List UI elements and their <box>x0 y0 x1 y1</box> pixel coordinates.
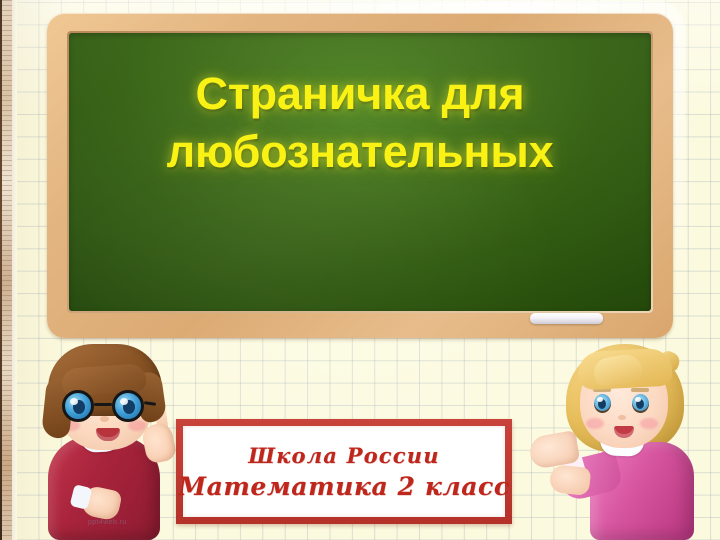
spine-gap <box>12 0 17 540</box>
girl-eye-right <box>632 394 649 413</box>
notebook-spine <box>0 0 17 540</box>
glasses-lens-right <box>112 390 144 422</box>
presentation-slide: Страничка для любознательных <box>0 0 720 540</box>
girl-eye-glint-right <box>635 397 641 402</box>
glasses-bridge <box>94 403 112 406</box>
boy-eye-glint-right <box>120 398 128 405</box>
glasses-lens-left <box>62 390 94 422</box>
girl-eye-glint-left <box>597 397 603 402</box>
boy-glasses-icon <box>62 390 150 422</box>
girl-cheek-left <box>586 418 604 429</box>
glasses-temple <box>144 401 156 406</box>
girl-brow-right <box>631 388 649 392</box>
girl-hand-lower <box>549 464 592 496</box>
girl-eye-left <box>594 394 611 413</box>
character-girl <box>536 338 708 540</box>
chalkboard: Страничка для любознательных <box>47 13 673 338</box>
watermark-text: ppt4web.ru <box>88 519 127 526</box>
chalk-piece-icon <box>530 313 603 324</box>
character-boy <box>18 340 193 540</box>
girl-nose <box>618 415 626 420</box>
sign-program-name: Школа России <box>248 443 439 468</box>
slide-title: Страничка для любознательных <box>69 65 651 180</box>
girl-cheek-right <box>640 418 658 429</box>
course-sign-inner: Школа России Математика 2 класс <box>183 426 505 517</box>
sign-subject-grade: Математика 2 класс <box>178 472 509 501</box>
spine-wood-strip <box>2 0 12 540</box>
boy-eye-glint-left <box>70 398 78 405</box>
course-sign: Школа России Математика 2 класс <box>176 419 512 524</box>
